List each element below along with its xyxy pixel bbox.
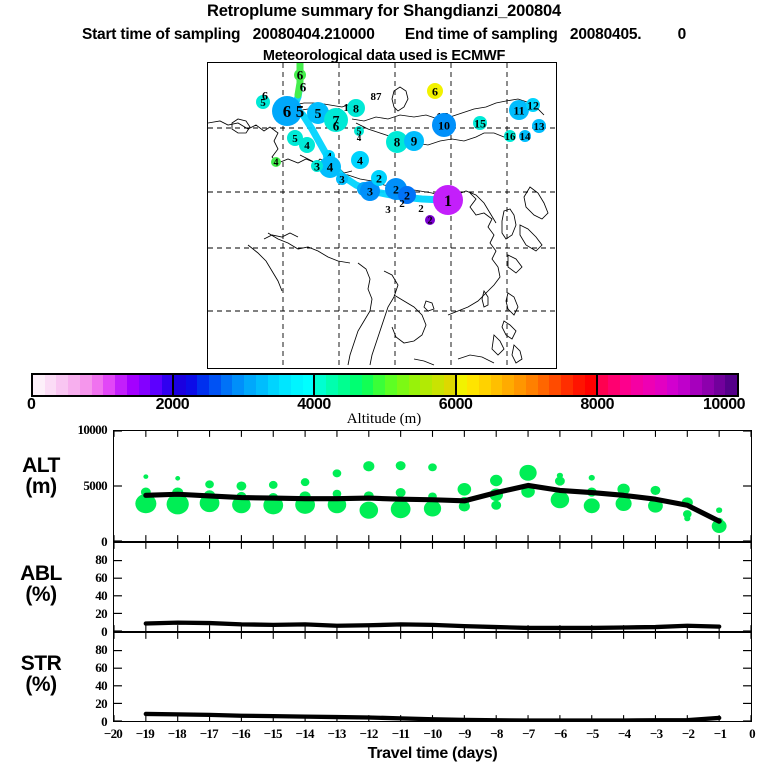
map-cluster-label: 2	[428, 216, 433, 227]
str-chart-canvas	[114, 633, 751, 721]
map-cluster: 6	[333, 119, 340, 134]
colorbar-segment	[643, 375, 655, 395]
map-cluster: 8	[347, 99, 365, 117]
map-cluster-label: 2	[404, 188, 410, 202]
colorbar-segment	[479, 375, 491, 395]
map-cluster: 1	[433, 185, 463, 215]
map-cluster-label: 9	[411, 134, 418, 149]
map-cluster: 15	[473, 116, 487, 130]
alt-scatter-point	[236, 481, 246, 490]
alt-scatter-point	[205, 480, 214, 488]
map-cluster-label: 6	[283, 102, 292, 121]
alt-scatter-point	[175, 476, 180, 481]
map-cluster: 2	[425, 215, 435, 227]
map-cluster-label: 10	[438, 118, 450, 132]
map-cluster-label: 4	[357, 133, 362, 143]
map-cluster: 5	[296, 102, 305, 121]
map-cluster: 9	[404, 131, 424, 151]
alt-scatter-point	[143, 474, 148, 479]
colorbar-segment	[186, 375, 198, 395]
x-tick-label: 0	[732, 726, 768, 742]
colorbar-segment	[385, 375, 397, 395]
map-cluster-label: 5	[296, 102, 305, 121]
y-tick-label: 20	[47, 696, 107, 712]
map-cluster-label: 4	[304, 140, 310, 152]
map-cluster-label: 15	[474, 116, 486, 130]
colorbar-segment	[232, 375, 244, 395]
colorbar-segment	[115, 375, 127, 395]
colorbar-segment	[667, 375, 679, 395]
colorbar-segment	[244, 375, 256, 395]
map-cluster-label: 5	[292, 133, 298, 145]
alt-scatter-point	[301, 478, 310, 486]
colorbar-segment	[678, 375, 690, 395]
colorbar-segment	[420, 375, 432, 395]
map-cluster: 10	[432, 113, 456, 137]
colorbar-segment	[197, 375, 209, 395]
end-time-label: End time of sampling	[405, 26, 558, 43]
map-cluster: 14	[519, 130, 531, 143]
colorbar-segment	[80, 375, 92, 395]
map-cluster: 11	[509, 100, 529, 120]
y-tick-label: 20	[47, 606, 107, 622]
retroplume-map: 5666655761888765454444343332222322189171…	[207, 62, 557, 369]
map-cluster: 12	[526, 98, 540, 112]
colorbar-segment	[514, 375, 526, 395]
alt-scatter-point	[424, 501, 441, 517]
colorbar-segment	[561, 375, 573, 395]
alt-scatter-point	[458, 483, 472, 496]
sampling-time-line: Start time of sampling 20080404.210000 E…	[0, 26, 768, 44]
map-cluster: 4	[357, 133, 362, 143]
colorbar-segment	[139, 375, 151, 395]
map-cluster: 3	[336, 173, 348, 186]
alt-scatter-point	[396, 461, 406, 470]
cluster-layer: 5666655761888765454444343332222322189171…	[256, 68, 546, 227]
map-cluster-label: 2	[418, 203, 424, 215]
y-tick-label: 80	[47, 642, 107, 658]
colorbar-segment	[150, 375, 162, 395]
map-cluster-label: 2	[376, 171, 382, 185]
start-time-value: 20080404.210000	[253, 26, 375, 43]
colorbar-segment	[174, 375, 186, 395]
map-cluster-label: 6	[333, 119, 340, 134]
colorbar-segment	[291, 375, 303, 395]
map-cluster-label: 14	[520, 131, 532, 143]
y-tick-label: 10000	[47, 422, 107, 438]
map-cluster-label: 5	[315, 107, 322, 122]
y-tick-label: 0	[47, 624, 107, 640]
map-cluster-label: 3	[385, 204, 391, 216]
map-cluster: 2	[399, 198, 405, 210]
abl-chart-canvas	[114, 543, 751, 631]
colorbar-major-tick	[596, 373, 598, 397]
map-cluster: 4	[299, 137, 315, 153]
str-chart-panel	[113, 632, 752, 722]
y-tick-label: 80	[47, 552, 107, 568]
colorbar-segment	[92, 375, 104, 395]
colorbar-segment	[56, 375, 68, 395]
colorbar-segment	[68, 375, 80, 395]
map-cluster: 4	[351, 151, 369, 169]
plume-trajectory	[294, 63, 442, 200]
map-cluster-label: 2	[399, 198, 405, 210]
colorbar-segment	[620, 375, 632, 395]
map-cluster-label: 3	[367, 184, 373, 198]
start-time-label: Start time of sampling	[82, 26, 240, 43]
colorbar-segment	[467, 375, 479, 395]
y-tick-label: 60	[47, 660, 107, 676]
y-tick-label: 40	[47, 678, 107, 694]
colorbar-segment	[279, 375, 291, 395]
alt-scatter-point	[555, 476, 565, 485]
map-cluster: 6	[300, 80, 307, 95]
map-cluster-label: 8	[394, 135, 401, 150]
colorbar-segment	[373, 375, 385, 395]
colorbar-segment	[432, 375, 444, 395]
colorbar-major-tick	[172, 373, 174, 397]
colorbar-segment	[455, 375, 467, 395]
map-cluster-label: 4	[357, 153, 363, 167]
alt-scatter-point	[428, 463, 437, 471]
colorbar-segment	[268, 375, 280, 395]
page-title: Retroplume summary for Shangdianzi_20080…	[0, 2, 768, 21]
alt-scatter-point	[491, 501, 501, 510]
alt-scatter-point	[551, 491, 570, 508]
map-cluster-label: 3	[314, 159, 320, 173]
map-cluster-label: 8	[353, 101, 359, 115]
colorbar-segment	[409, 375, 421, 395]
end-time-extra: 0	[678, 26, 686, 43]
alt-scatter-point	[363, 461, 374, 471]
end-time-value: 20080405.	[570, 26, 641, 43]
alt-scatter-point	[396, 488, 406, 497]
map-cluster-label: 11	[513, 103, 524, 117]
colorbar-major-tick	[455, 373, 457, 397]
alt-scatter-point	[651, 486, 661, 495]
alt-chart-panel	[113, 430, 752, 542]
colorbar-segment	[549, 375, 561, 395]
map-cluster: 4	[271, 157, 281, 169]
colorbar-segment	[221, 375, 233, 395]
map-cluster: 2	[418, 203, 424, 215]
coastline-layer	[208, 87, 548, 365]
colorbar-segment	[526, 375, 538, 395]
alt-scatter-point	[360, 502, 379, 519]
x-axis-title: Travel time (days)	[113, 745, 752, 763]
colorbar-segment	[690, 375, 702, 395]
colorbar-segment	[444, 375, 456, 395]
str-line	[146, 714, 719, 721]
colorbar-segment	[338, 375, 350, 395]
colorbar-axis-title: Altitude (m)	[0, 411, 768, 428]
colorbar-segment	[209, 375, 221, 395]
abl-chart-panel	[113, 542, 752, 632]
colorbar-segment	[502, 375, 514, 395]
map-cluster-label: 4	[274, 158, 279, 169]
map-cluster-label: 6	[300, 80, 307, 95]
map-cluster: 13	[532, 119, 546, 133]
alt-scatter-point	[519, 465, 536, 481]
map-cluster-label: 16	[505, 131, 517, 143]
map-cluster-label: 3	[339, 174, 345, 186]
map-cluster-label: 12	[527, 98, 539, 112]
colorbar-segment	[538, 375, 550, 395]
map-cluster-label: 6	[432, 84, 438, 98]
colorbar-segment	[491, 375, 503, 395]
y-tick-label: 5000	[47, 478, 107, 494]
map-cluster-label: 4	[327, 160, 334, 175]
map-cluster-label: 6	[262, 88, 268, 102]
colorbar-segment	[631, 375, 643, 395]
colorbar-segment	[702, 375, 714, 395]
colorbar-segment	[127, 375, 139, 395]
colorbar-segment	[585, 375, 597, 395]
y-tick-label: 40	[47, 588, 107, 604]
colorbar-segment	[362, 375, 374, 395]
alt-scatter-point	[333, 469, 342, 477]
colorbar-segment	[315, 375, 327, 395]
colorbar-segment	[397, 375, 409, 395]
colorbar-major-tick	[313, 373, 315, 397]
map-cluster: 3	[385, 204, 391, 216]
colorbar-segment	[326, 375, 338, 395]
alt-chart-canvas	[114, 431, 751, 541]
y-tick-label: 0	[47, 534, 107, 550]
colorbar-segment	[608, 375, 620, 395]
colorbar-segment	[33, 375, 45, 395]
map-cluster-label: 1	[444, 193, 452, 210]
alt-scatter-point	[684, 516, 690, 522]
colorbar-segment	[350, 375, 362, 395]
colorbar-segment	[725, 375, 737, 395]
alt-scatter-point	[269, 481, 278, 489]
alt-scatter-point	[584, 498, 600, 513]
colorbar-segment	[256, 375, 268, 395]
map-cluster: 6	[427, 83, 443, 99]
map-cluster: 87	[371, 91, 383, 103]
alt-scatter-point	[490, 475, 502, 486]
alt-scatter-point	[391, 500, 411, 518]
colorbar-segment	[45, 375, 57, 395]
colorbar-segment	[655, 375, 667, 395]
map-canvas: 5666655761888765454444343332222322189171…	[208, 63, 556, 368]
map-cluster: 2	[371, 170, 387, 186]
alt-scatter-point	[716, 507, 722, 513]
y-tick-label: 60	[47, 570, 107, 586]
map-cluster-label: 13	[534, 121, 546, 133]
alt-scatter-point	[589, 475, 595, 481]
colorbar-segment	[714, 375, 726, 395]
map-cluster: 6	[262, 88, 268, 102]
altitude-colorbar	[31, 373, 739, 397]
colorbar-segment	[573, 375, 585, 395]
colorbar-segment	[103, 375, 115, 395]
map-cluster: 16	[504, 130, 516, 143]
map-cluster-label: 87	[371, 91, 383, 103]
